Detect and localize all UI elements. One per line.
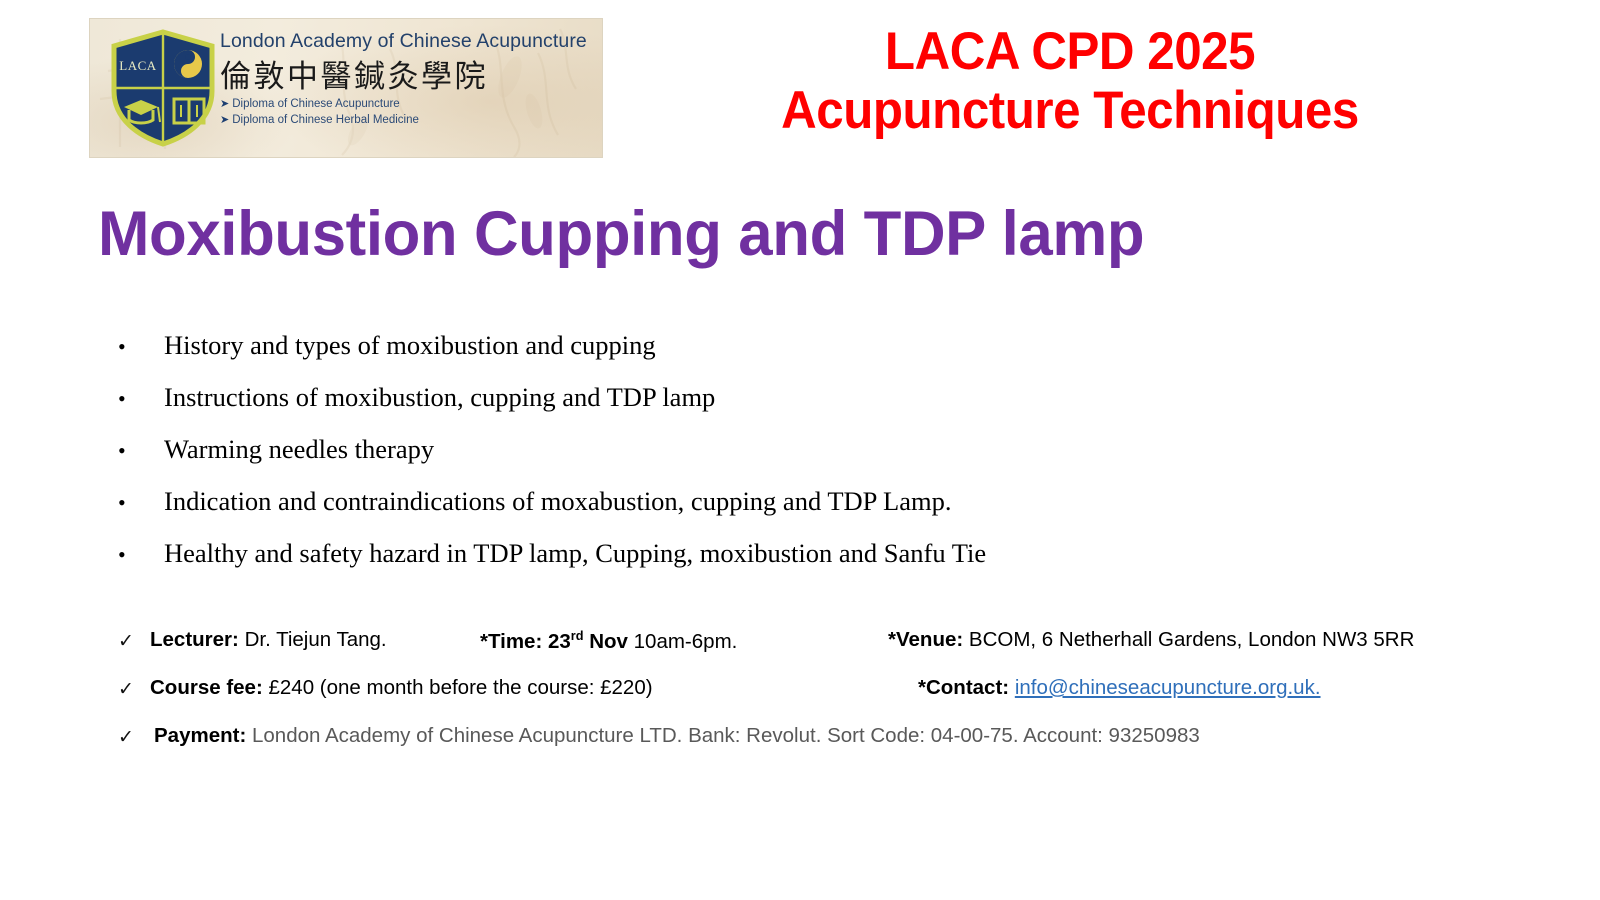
detail-row-lecturer-time-venue: ✓ Lecturer: Dr. Tiejun Tang. *Time: 23rd… (118, 628, 1538, 676)
logo-text-block: London Academy of Chinese Acupuncture 倫敦… (220, 31, 598, 128)
time-label: *Time: (480, 630, 542, 653)
course-content-list: • History and types of moxibustion and c… (118, 330, 1458, 590)
arrow-bullet-icon: ➤ (220, 98, 229, 110)
red-title-line-2: Acupuncture Techniques (670, 81, 1470, 140)
check-icon: ✓ (118, 678, 144, 701)
logo-chinese-calligraphy: 倫敦中醫鍼灸學院 (220, 53, 598, 97)
check-icon: ✓ (118, 726, 144, 749)
payment-value: London Academy of Chinese Acupuncture LT… (252, 724, 1200, 747)
list-item: • Instructions of moxibustion, cupping a… (118, 382, 1458, 434)
laca-logo-banner: LACA London Academy of Chinese Acupunctu… (89, 18, 603, 158)
contact-label: *Contact: (918, 676, 1009, 699)
logo-subline-1-text: Diploma of Chinese Acupuncture (232, 98, 400, 110)
bullet-dot-icon: • (118, 336, 164, 358)
list-item: • Warming needles therapy (118, 434, 1458, 486)
course-fee-label: Course fee: (150, 676, 263, 699)
arrow-bullet-icon: ➤ (220, 114, 229, 126)
slide-root: { "logo": { "title": "London Academy of … (0, 0, 1600, 900)
lecturer-label: Lecturer: (150, 628, 239, 651)
bullet-dot-icon: • (118, 388, 164, 410)
venue-value: BCOM, 6 Netherhall Gardens, London NW3 5… (969, 628, 1415, 651)
venue-info: *Venue: BCOM, 6 Netherhall Gardens, Lond… (888, 628, 1414, 652)
lecturer-value: Dr. Tiejun Tang. (245, 628, 387, 651)
course-fee-info: Course fee: £240 (one month before the c… (150, 676, 653, 700)
logo-subline-2: ➤Diploma of Chinese Herbal Medicine (220, 113, 598, 129)
time-month: Nov (589, 630, 628, 653)
bullet-dot-icon: • (118, 492, 164, 514)
venue-label: *Venue: (888, 628, 963, 651)
yin-yang-moon-icon (174, 50, 202, 78)
laca-shield-emblem: LACA (104, 27, 222, 149)
list-item-text: Healthy and safety hazard in TDP lamp, C… (164, 538, 986, 569)
detail-row-payment: ✓ Payment: London Academy of Chinese Acu… (118, 724, 1538, 772)
shield-laca-text: LACA (119, 58, 157, 73)
time-day: 23 (548, 630, 571, 653)
course-topic-heading: Moxibustion Cupping and TDP lamp (98, 196, 1401, 272)
list-item-text: Indication and contraindications of moxa… (164, 486, 951, 517)
list-item-text: Warming needles therapy (164, 434, 434, 465)
contact-info: *Contact: info@chineseacupuncture.org.uk… (918, 676, 1321, 700)
bullet-dot-icon: • (118, 440, 164, 462)
bullet-dot-icon: • (118, 544, 164, 566)
list-item: • Healthy and safety hazard in TDP lamp,… (118, 538, 1458, 590)
lecturer-info: Lecturer: Dr. Tiejun Tang. (150, 628, 387, 652)
logo-subline-1: ➤Diploma of Chinese Acupuncture (220, 97, 598, 113)
payment-label: Payment: (154, 724, 246, 747)
check-icon: ✓ (118, 630, 144, 653)
time-info: *Time: 23rd Nov 10am-6pm. (480, 628, 737, 654)
time-ordinal-suffix: rd (571, 628, 584, 643)
course-details-block: ✓ Lecturer: Dr. Tiejun Tang. *Time: 23rd… (118, 628, 1538, 772)
list-item-text: History and types of moxibustion and cup… (164, 330, 656, 361)
list-item: • Indication and contraindications of mo… (118, 486, 1458, 538)
logo-subline-2-text: Diploma of Chinese Herbal Medicine (232, 114, 419, 126)
detail-row-fee-contact: ✓ Course fee: £240 (one month before the… (118, 676, 1538, 724)
course-fee-value: £240 (one month before the course: £220) (268, 676, 652, 699)
logo-academy-name: London Academy of Chinese Acupuncture (220, 31, 598, 52)
red-title-line-1: LACA CPD 2025 (670, 22, 1470, 81)
payment-info: Payment: London Academy of Chinese Acupu… (154, 724, 1200, 748)
contact-email-link[interactable]: info@chineseacupuncture.org.uk. (1015, 676, 1321, 699)
list-item-text: Instructions of moxibustion, cupping and… (164, 382, 715, 413)
list-item: • History and types of moxibustion and c… (118, 330, 1458, 382)
logo-chinese-name-text: 倫敦中醫鍼灸學院 (220, 59, 488, 94)
course-series-title: LACA CPD 2025 Acupuncture Techniques (670, 22, 1470, 140)
time-value: 10am-6pm. (634, 630, 738, 653)
